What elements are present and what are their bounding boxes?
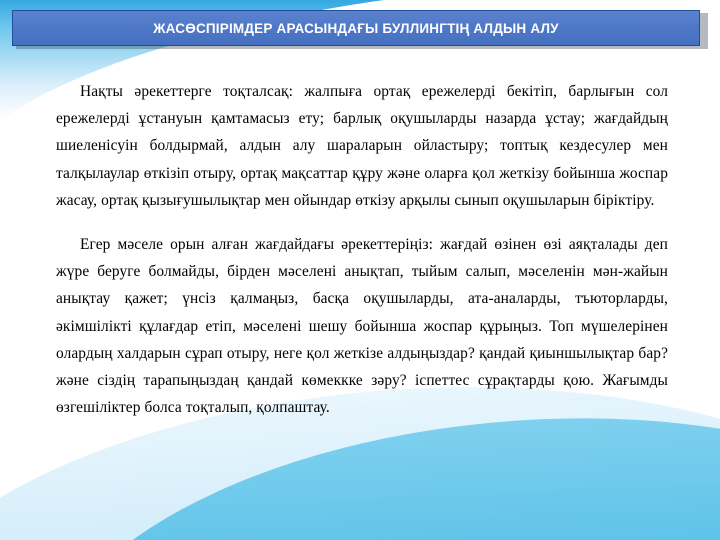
slide-canvas: ЖАСӨСПІРІМДЕР АРАСЫНДАҒЫ БУЛЛИНГТІҢ АЛДЫ… <box>0 0 720 540</box>
body-paragraph-1: Нақты әрекеттерге тоқталсақ: жалпыға орт… <box>56 78 668 214</box>
title-bar: ЖАСӨСПІРІМДЕР АРАСЫНДАҒЫ БУЛЛИНГТІҢ АЛДЫ… <box>12 10 700 46</box>
body-paragraph-2: Егер мәселе орын алған жағдайдағы әрекет… <box>56 231 668 421</box>
body-content: Нақты әрекеттерге тоқталсақ: жалпыға орт… <box>56 78 668 421</box>
slide-title: ЖАСӨСПІРІМДЕР АРАСЫНДАҒЫ БУЛЛИНГТІҢ АЛДЫ… <box>153 21 558 36</box>
